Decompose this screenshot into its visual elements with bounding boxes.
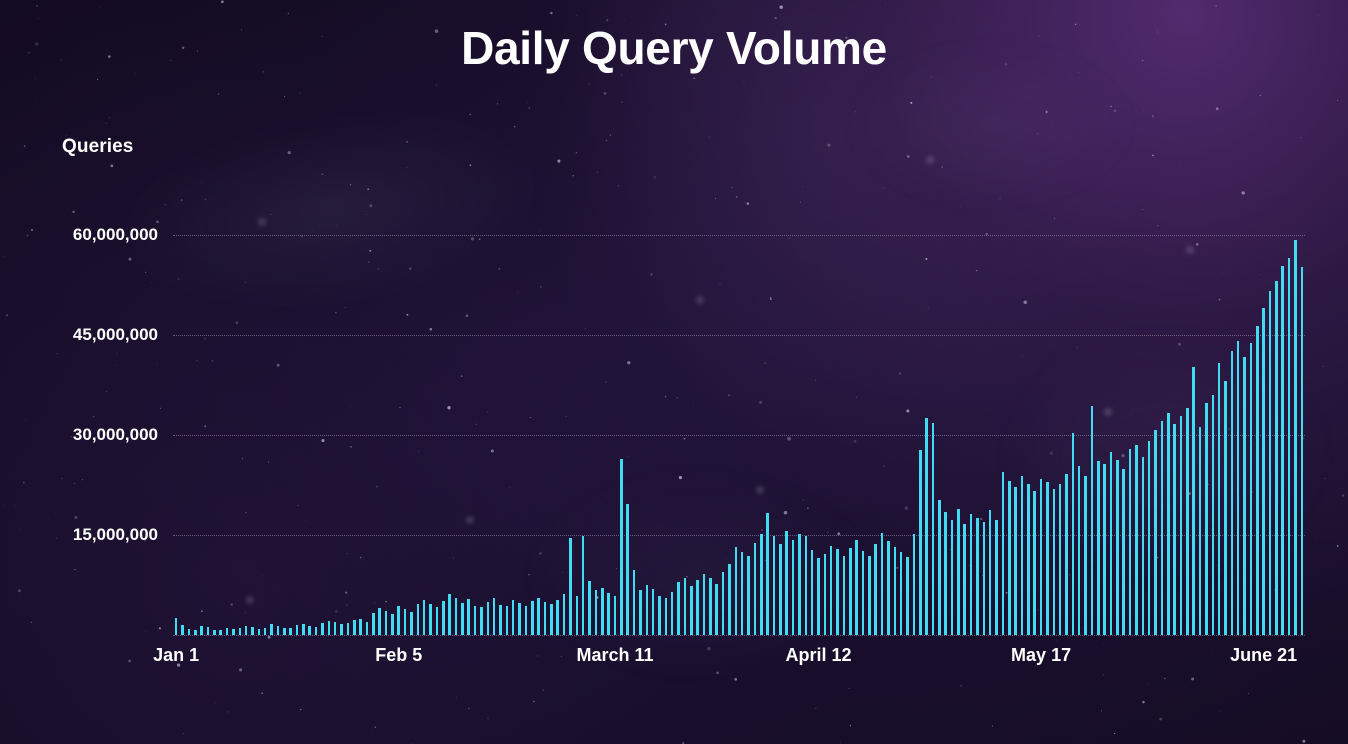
bar	[976, 518, 979, 635]
bar	[296, 625, 299, 635]
bar	[194, 630, 197, 635]
bar	[340, 624, 343, 635]
bar	[1072, 433, 1075, 635]
bar	[811, 550, 814, 635]
bar	[944, 512, 947, 635]
y-axis-tick-label: 45,000,000	[28, 325, 158, 345]
bar	[1224, 381, 1227, 635]
bar	[487, 602, 490, 635]
bar	[1180, 416, 1183, 635]
bar	[576, 596, 579, 635]
bar	[760, 534, 763, 635]
bar	[1173, 424, 1176, 635]
bar	[728, 564, 731, 635]
bar	[1231, 351, 1234, 635]
bar	[913, 534, 916, 635]
bar	[900, 552, 903, 635]
bar	[696, 580, 699, 635]
bar	[868, 556, 871, 635]
bar	[321, 623, 324, 635]
bar	[423, 600, 426, 635]
bar	[671, 592, 674, 635]
bar	[805, 536, 808, 635]
bar	[595, 590, 598, 635]
bar	[277, 626, 280, 635]
bar	[207, 627, 210, 635]
bar	[219, 630, 222, 635]
bar	[1218, 363, 1221, 635]
bar	[1186, 408, 1189, 635]
bar	[785, 531, 788, 635]
bar	[429, 604, 432, 635]
bar	[512, 600, 515, 635]
bar	[747, 556, 750, 635]
x-axis-tick-label: May 17	[1011, 645, 1071, 666]
bar	[359, 619, 362, 635]
bar	[410, 612, 413, 635]
bar	[1129, 449, 1132, 635]
chart-title: Daily Query Volume	[0, 18, 1348, 78]
bar	[366, 622, 369, 635]
bar	[766, 513, 769, 635]
bar	[417, 604, 420, 635]
bar	[849, 548, 852, 635]
bar	[677, 582, 680, 635]
bar	[1033, 491, 1036, 635]
bar	[455, 598, 458, 635]
bar	[175, 618, 178, 635]
bar	[1078, 466, 1081, 635]
bar	[607, 593, 610, 635]
bar	[239, 628, 242, 635]
bar	[658, 596, 661, 635]
bar	[283, 628, 286, 635]
bar	[1046, 482, 1049, 635]
bar	[372, 613, 375, 635]
bar	[817, 558, 820, 635]
bar	[1167, 413, 1170, 635]
bar	[1027, 484, 1030, 635]
bar	[200, 626, 203, 635]
bar	[1281, 266, 1284, 635]
bar	[862, 551, 865, 635]
bar	[353, 620, 356, 635]
bar	[894, 547, 897, 635]
bar	[773, 536, 776, 635]
bar	[226, 628, 229, 635]
bar	[1084, 476, 1087, 635]
bar	[480, 607, 483, 635]
bar	[1262, 308, 1265, 635]
bar	[1116, 460, 1119, 635]
bar	[347, 623, 350, 635]
bar	[506, 606, 509, 635]
bar	[334, 622, 337, 635]
bar	[951, 520, 954, 635]
bar	[308, 626, 311, 635]
bar	[537, 598, 540, 635]
bar	[582, 536, 585, 635]
bar	[499, 605, 502, 635]
bar	[709, 578, 712, 635]
bar	[1021, 476, 1024, 635]
x-axis-tick-label: April 12	[785, 645, 851, 666]
bar	[1243, 357, 1246, 635]
bar	[531, 601, 534, 635]
x-axis-tick-label: June 21	[1230, 645, 1297, 666]
bar	[588, 581, 591, 635]
bar	[328, 621, 331, 635]
bar	[302, 624, 305, 635]
bar	[544, 602, 547, 635]
bar	[315, 627, 318, 635]
bar	[874, 544, 877, 635]
bar	[493, 598, 496, 635]
bar	[830, 546, 833, 635]
bar	[385, 611, 388, 635]
bar	[213, 630, 216, 635]
chart-canvas: Daily Query Volume Queries 60,000,00045,…	[0, 0, 1348, 744]
bar	[556, 600, 559, 635]
bar	[1288, 258, 1291, 635]
bar	[855, 540, 858, 635]
bar	[1053, 489, 1056, 635]
bar	[906, 557, 909, 635]
y-axis-title: Queries	[62, 136, 133, 158]
x-axis-tick-label: Jan 1	[153, 645, 199, 666]
bar	[525, 606, 528, 635]
bar	[563, 594, 566, 635]
bar	[1212, 395, 1215, 635]
y-axis-tick-label: 60,000,000	[28, 225, 158, 245]
bar	[467, 599, 470, 635]
bar	[633, 570, 636, 635]
bar	[614, 596, 617, 635]
bar	[1135, 445, 1138, 636]
bar	[887, 541, 890, 635]
bar	[442, 601, 445, 635]
bar	[1301, 267, 1304, 635]
bar	[925, 418, 928, 635]
bar	[843, 556, 846, 635]
bar	[264, 628, 267, 635]
x-axis-tick-label: March 11	[576, 645, 653, 666]
bar	[1142, 457, 1145, 635]
bar	[391, 614, 394, 635]
bar	[378, 608, 381, 635]
bar	[1275, 281, 1278, 635]
bar	[690, 586, 693, 635]
bar	[181, 625, 184, 635]
bar	[1014, 487, 1017, 635]
bar	[957, 509, 960, 635]
bar	[1065, 474, 1068, 635]
bar	[754, 543, 757, 635]
bar	[245, 626, 248, 635]
bar	[270, 624, 273, 635]
bar	[397, 606, 400, 635]
bar	[1237, 341, 1240, 635]
bar	[232, 629, 235, 635]
bar	[1059, 484, 1062, 635]
bar	[792, 540, 795, 635]
bar	[1294, 240, 1297, 635]
bar	[1110, 452, 1113, 635]
y-axis-tick-label: 30,000,000	[28, 425, 158, 445]
x-axis-tick-label: Feb 5	[375, 645, 422, 666]
bar	[1008, 481, 1011, 635]
bar	[1148, 441, 1151, 636]
bar	[289, 628, 292, 635]
bar	[1091, 406, 1094, 635]
bar	[1040, 479, 1043, 635]
bar	[448, 594, 451, 635]
bar	[1192, 367, 1195, 635]
bar	[188, 629, 191, 635]
bar	[932, 423, 935, 635]
bar	[550, 604, 553, 635]
y-axis-tick-label: 15,000,000	[28, 525, 158, 545]
bar	[474, 606, 477, 635]
bar	[703, 574, 706, 635]
bar	[1122, 469, 1125, 635]
bar-series	[173, 222, 1305, 635]
bar	[646, 585, 649, 635]
bar	[836, 549, 839, 635]
bar	[404, 609, 407, 635]
bar	[963, 524, 966, 635]
bar	[938, 500, 941, 635]
bar	[741, 552, 744, 635]
bar	[665, 598, 668, 635]
bar	[995, 520, 998, 635]
bar	[620, 459, 623, 635]
bar	[1250, 343, 1253, 635]
bar	[1103, 464, 1106, 635]
bar	[983, 522, 986, 635]
bar	[779, 544, 782, 635]
bar	[569, 538, 572, 635]
bar	[715, 584, 718, 635]
bar	[722, 572, 725, 635]
bar	[1154, 430, 1157, 635]
bar	[684, 578, 687, 635]
bar	[989, 510, 992, 635]
bar	[518, 603, 521, 635]
bar	[601, 588, 604, 635]
bar	[1161, 421, 1164, 635]
bar	[652, 589, 655, 635]
bar	[735, 547, 738, 635]
bar	[626, 504, 629, 635]
bar	[1205, 403, 1208, 635]
bar	[1002, 472, 1005, 635]
bar	[970, 514, 973, 635]
bar	[436, 607, 439, 635]
bar	[919, 450, 922, 635]
x-axis-baseline	[173, 635, 1305, 636]
bar	[258, 629, 261, 635]
bar	[824, 554, 827, 635]
bar	[1199, 427, 1202, 635]
bar	[798, 534, 801, 635]
bar	[251, 627, 254, 635]
bar	[639, 590, 642, 635]
bar	[1256, 326, 1259, 635]
bar	[1097, 461, 1100, 635]
bar	[881, 533, 884, 635]
bar	[1269, 291, 1272, 635]
bar	[461, 603, 464, 635]
